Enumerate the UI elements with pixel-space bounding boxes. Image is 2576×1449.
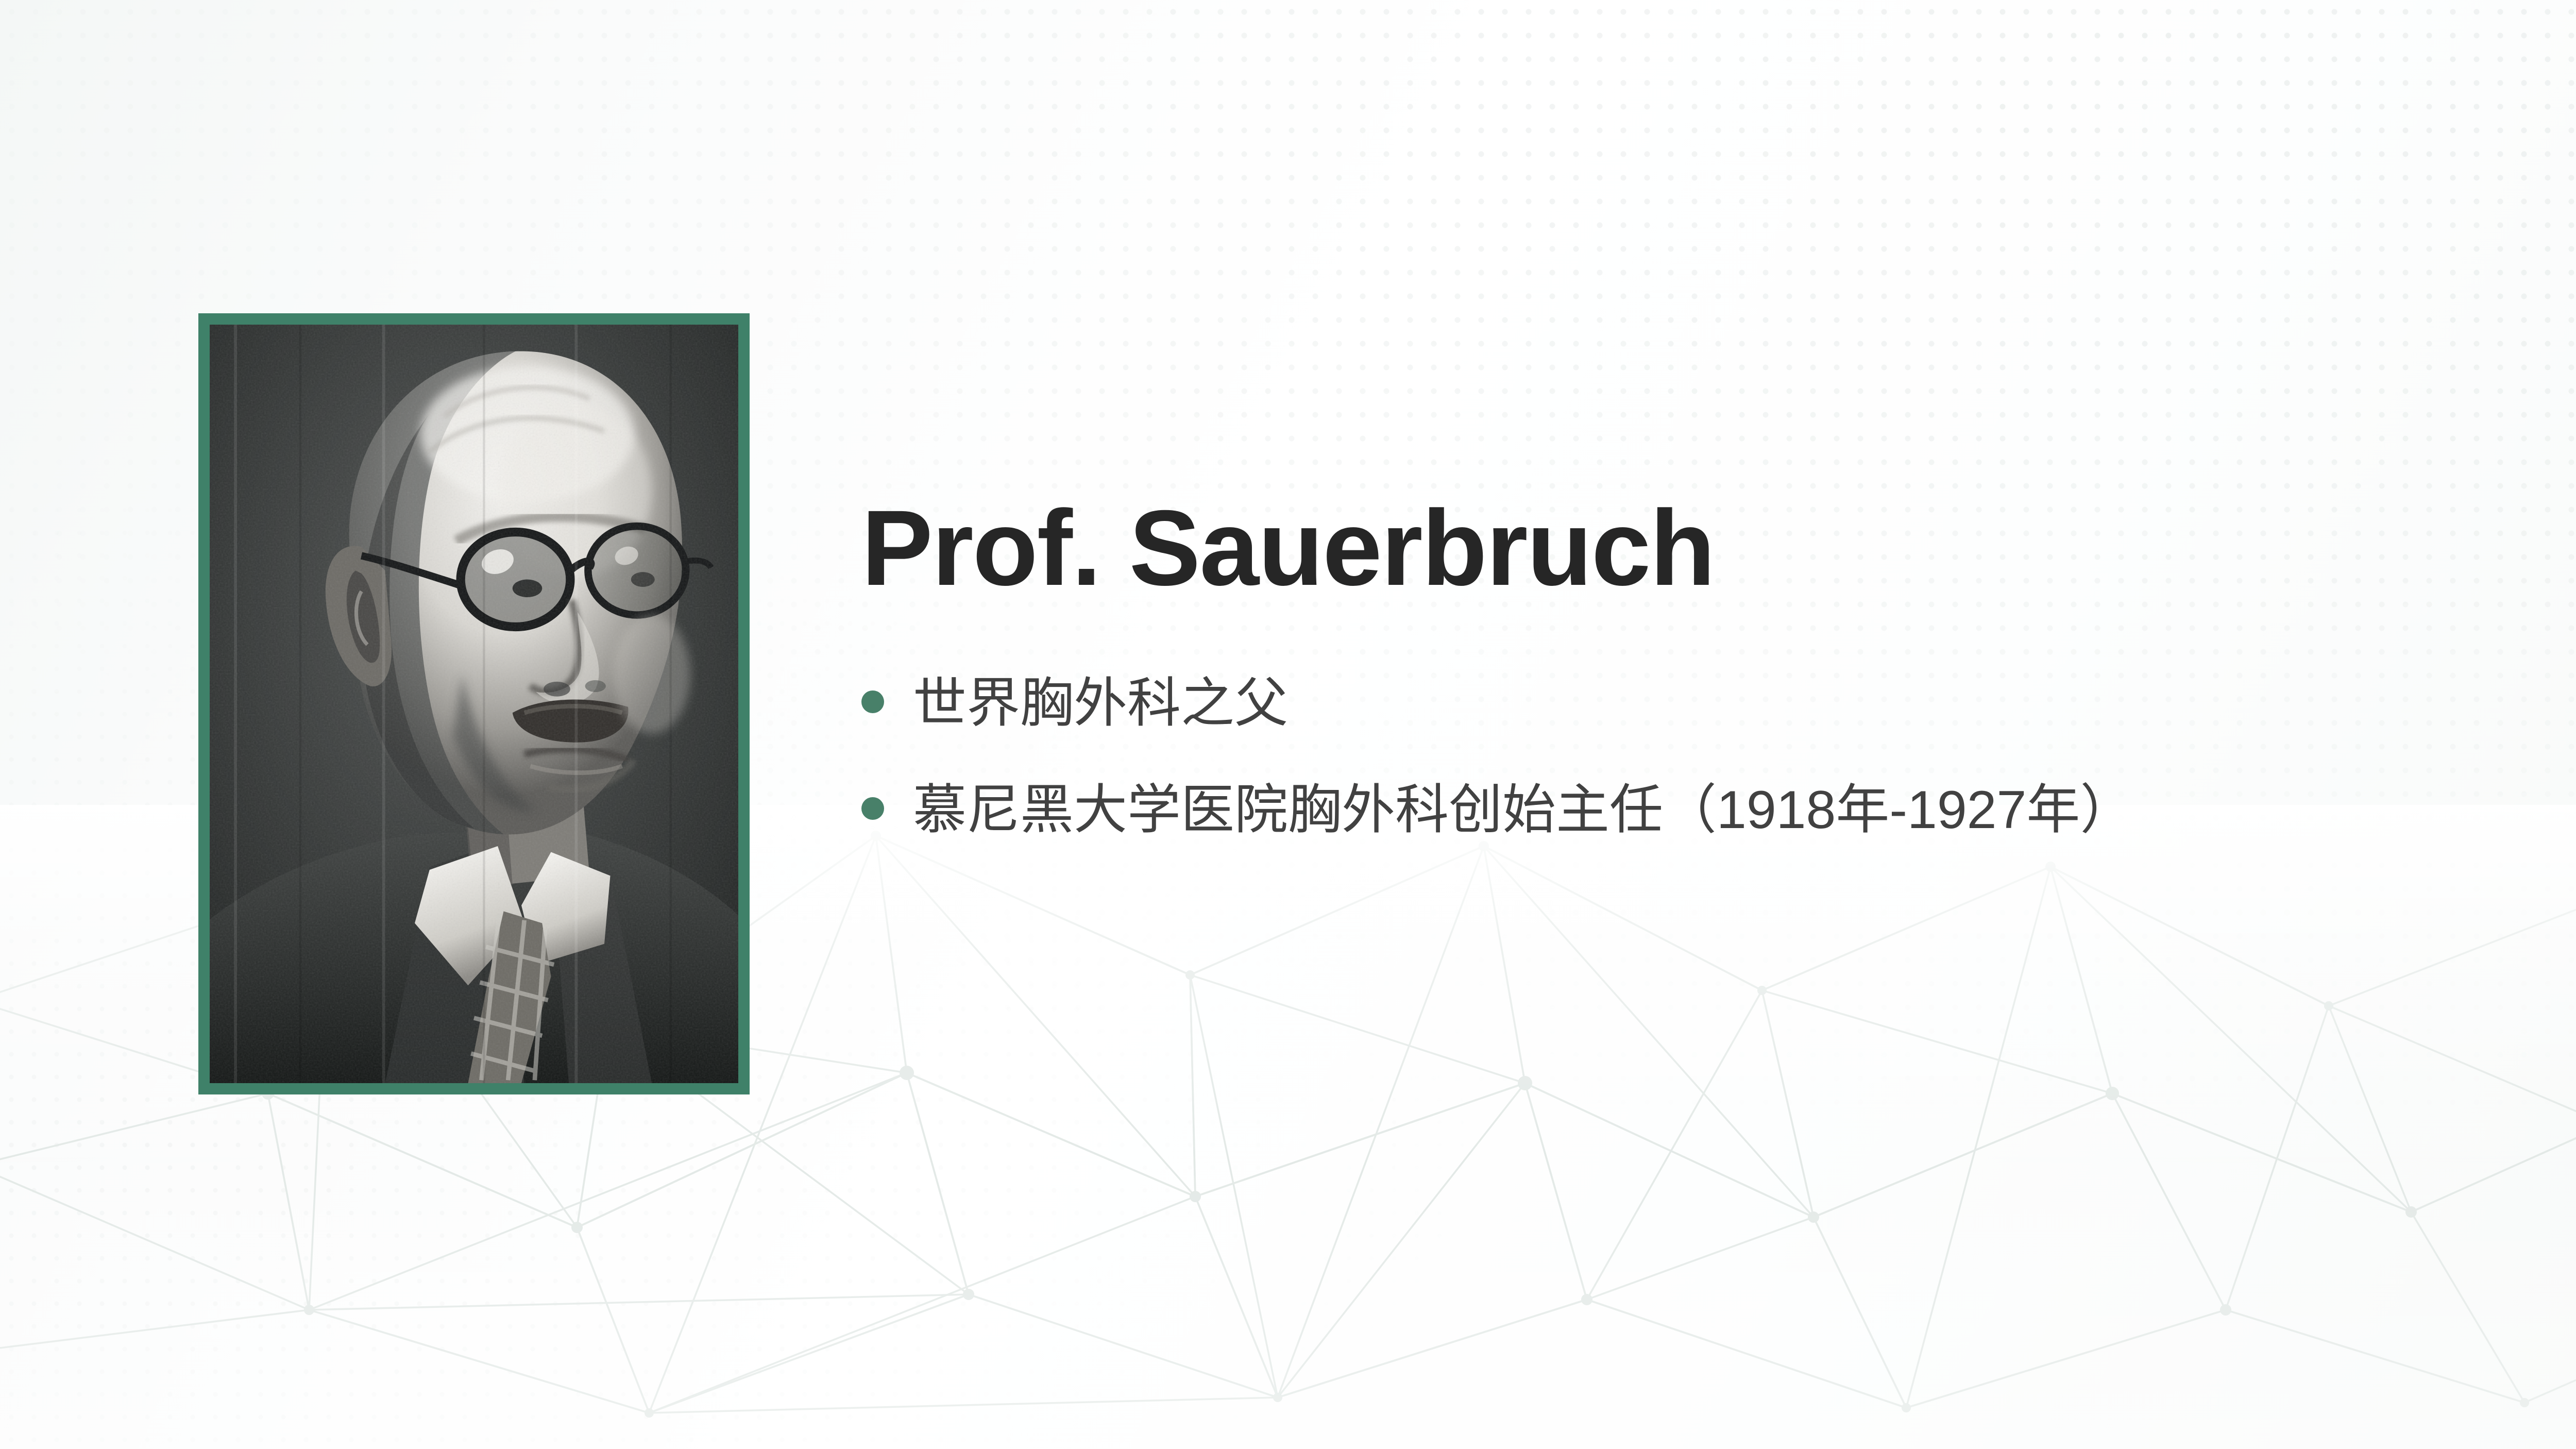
bullet-dot-icon (861, 797, 884, 820)
text-column: Prof. Sauerbruch 世界胸外科之父 慕尼黑大学医院胸外科创始主任（… (861, 495, 2459, 841)
page-title: Prof. Sauerbruch (861, 495, 2459, 602)
bullet-text: 世界胸外科之父 (913, 672, 1288, 735)
bullet-text: 慕尼黑大学医院胸外科创始主任（1918年-1927年） (913, 779, 2133, 842)
portrait-frame (198, 313, 750, 1094)
bullet-dot-icon (861, 690, 884, 713)
slide-canvas: Prof. Sauerbruch 世界胸外科之父 慕尼黑大学医院胸外科创始主任（… (0, 0, 2576, 1449)
list-item: 世界胸外科之父 (861, 672, 2459, 735)
bullet-list: 世界胸外科之父 慕尼黑大学医院胸外科创始主任（1918年-1927年） (861, 672, 2459, 841)
portrait-photo (210, 325, 738, 1083)
list-item: 慕尼黑大学医院胸外科创始主任（1918年-1927年） (861, 779, 2459, 842)
